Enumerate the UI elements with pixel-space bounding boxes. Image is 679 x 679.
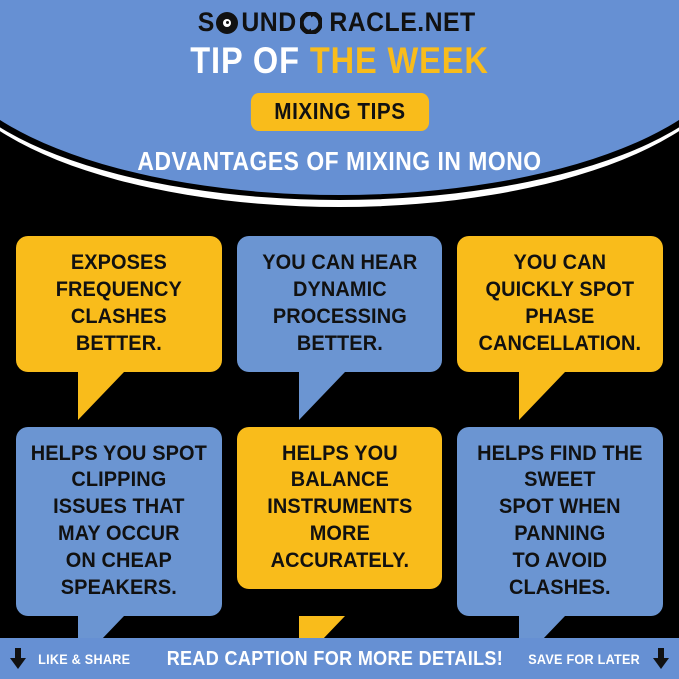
tip-card-4: HELPS YOU SPOT CLIPPING ISSUES THAT MAY …: [16, 427, 222, 616]
tips-row-1: EXPOSES FREQUENCY CLASHES BETTER. YOU CA…: [16, 236, 663, 372]
tip-text: YOU CAN QUICKLY SPOT PHASE CANCELLATION.: [472, 250, 648, 358]
tip-card-5: HELPS YOU BALANCE INSTRUMENTS MORE ACCUR…: [237, 427, 443, 616]
speech-bubble: HELPS FIND THE SWEET SPOT WHEN PANNING T…: [457, 427, 663, 616]
tip-card-3: YOU CAN QUICKLY SPOT PHASE CANCELLATION.: [457, 236, 663, 372]
tip-card-2: YOU CAN HEAR DYNAMIC PROCESSING BETTER.: [237, 236, 443, 372]
like-and-share-label: LIKE & SHARE: [38, 652, 130, 666]
tip-card-6: HELPS FIND THE SWEET SPOT WHEN PANNING T…: [457, 427, 663, 616]
title-gold-part: THE WEEK: [310, 40, 489, 81]
category-badge[interactable]: MIXING TIPS: [250, 93, 428, 131]
vinyl-record-icon: [216, 12, 238, 34]
tip-text: HELPS YOU SPOT CLIPPING ISSUES THAT MAY …: [31, 441, 207, 602]
speech-bubble: YOU CAN HEAR DYNAMIC PROCESSING BETTER.: [237, 236, 443, 372]
arrow-down-icon: [653, 648, 669, 670]
speech-bubble: HELPS YOU BALANCE INSTRUMENTS MORE ACCUR…: [237, 427, 443, 589]
speech-bubble: EXPOSES FREQUENCY CLASHES BETTER.: [16, 236, 222, 372]
speech-bubble: HELPS YOU SPOT CLIPPING ISSUES THAT MAY …: [16, 427, 222, 616]
tip-text: HELPS FIND THE SWEET SPOT WHEN PANNING T…: [472, 441, 648, 602]
page-title: TIP OF THE WEEK: [41, 42, 639, 79]
header-content: S UND RACLE.NET TIP OF THE WEEK MIXING: [0, 0, 679, 174]
tips-grid: EXPOSES FREQUENCY CLASHES BETTER. YOU CA…: [16, 236, 663, 616]
tip-text: HELPS YOU BALANCE INSTRUMENTS MORE ACCUR…: [251, 441, 427, 575]
title-white-part: TIP OF: [190, 40, 300, 81]
logo-text-part3: RACLE.NET: [330, 9, 476, 36]
save-for-later-label: SAVE FOR LATER: [528, 652, 640, 666]
logo-text-part1: S: [197, 9, 214, 36]
like-and-share-group[interactable]: LIKE & SHARE: [0, 648, 148, 670]
brand-logo: S UND RACLE.NET: [0, 9, 679, 36]
tip-text: EXPOSES FREQUENCY CLASHES BETTER.: [31, 250, 207, 358]
save-for-later-group[interactable]: SAVE FOR LATER: [522, 648, 679, 670]
circular-loop-icon: [300, 12, 322, 34]
subheading: ADVANTAGES OF MIXING IN MONO: [41, 148, 639, 174]
read-caption-label: READ CAPTION FOR MORE DETAILS!: [167, 649, 503, 669]
tips-row-2: HELPS YOU SPOT CLIPPING ISSUES THAT MAY …: [16, 427, 663, 616]
speech-bubble-tail: [299, 372, 345, 420]
speech-bubble-tail: [519, 372, 565, 420]
footer-bar: LIKE & SHARE READ CAPTION FOR MORE DETAI…: [0, 638, 679, 679]
speech-bubble-tail: [78, 372, 124, 420]
arrow-down-icon: [10, 648, 26, 670]
speech-bubble: YOU CAN QUICKLY SPOT PHASE CANCELLATION.: [457, 236, 663, 372]
tip-text: YOU CAN HEAR DYNAMIC PROCESSING BETTER.: [251, 250, 427, 358]
logo-text-part2: UND: [242, 9, 297, 36]
tip-card-1: EXPOSES FREQUENCY CLASHES BETTER.: [16, 236, 222, 372]
infographic-poster: S UND RACLE.NET TIP OF THE WEEK MIXING: [0, 0, 679, 679]
